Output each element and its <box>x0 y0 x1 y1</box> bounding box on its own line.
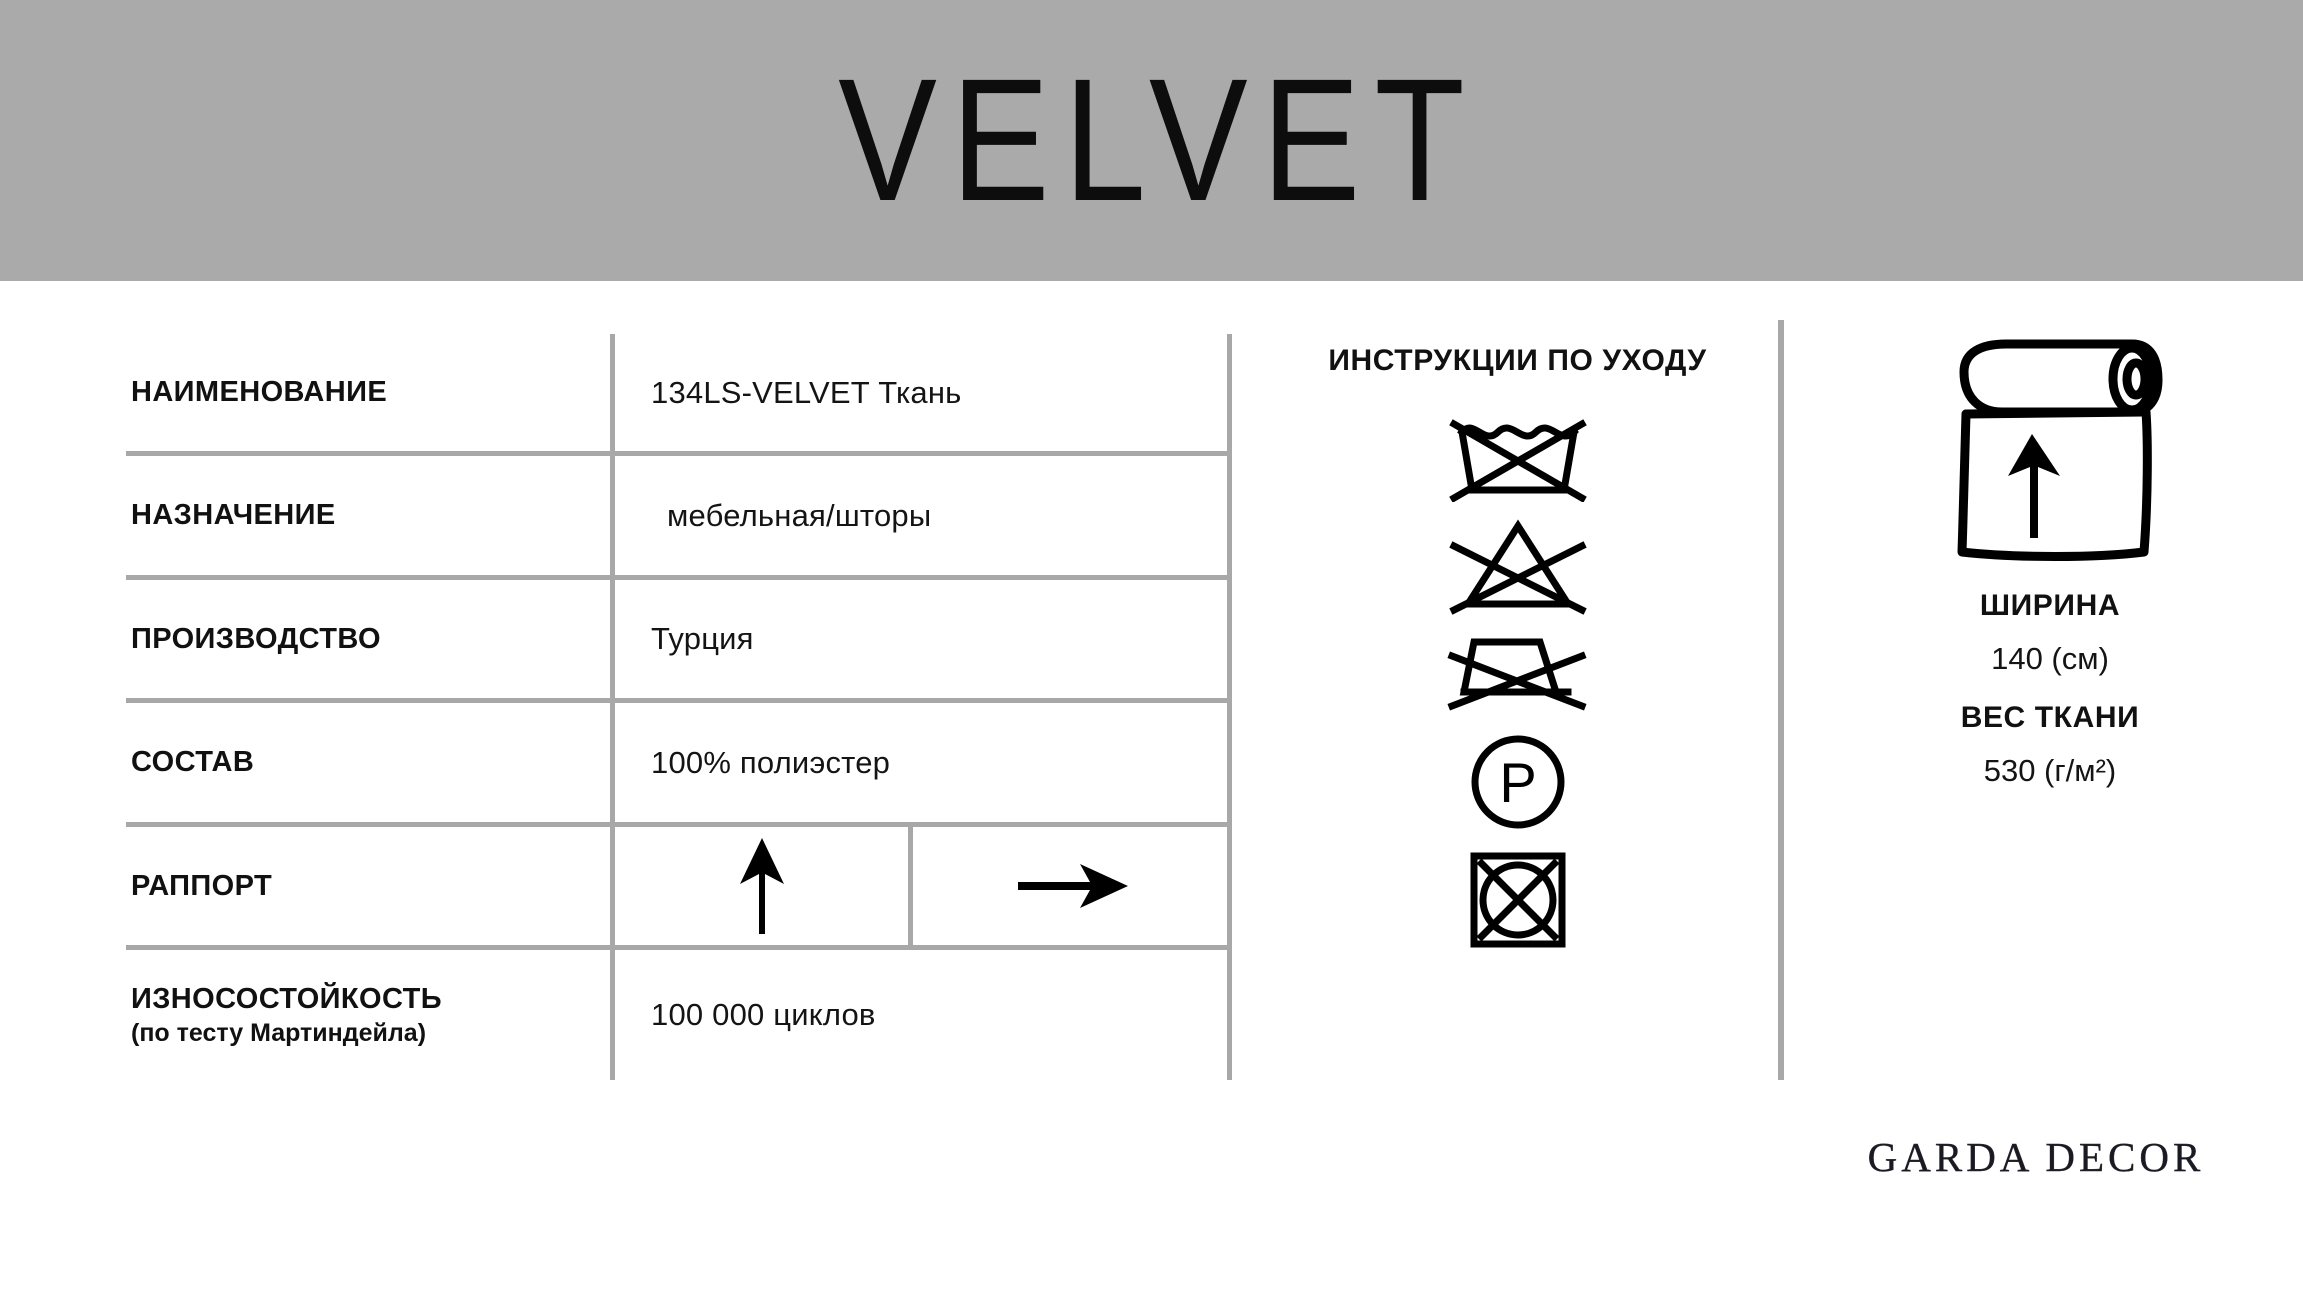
spec-label-cell: СОСТАВ <box>126 703 610 822</box>
specification-table: НАИМЕНОВАНИЕ 134LS-VELVET Ткань НАЗНАЧЕН… <box>126 334 1232 1080</box>
do-not-iron-icon <box>1444 630 1592 716</box>
page-title: VELVET <box>824 53 1479 228</box>
table-row: НАЗНАЧЕНИЕ мебельная/шторы <box>126 456 1232 580</box>
width-label: ШИРИНА <box>1980 589 2120 623</box>
weight-value: 530 (г/м²) <box>1984 753 2117 789</box>
roll-direction-arrow-icon <box>2008 434 2060 538</box>
spec-label-origin: ПРОИЗВОДСТВО <box>131 622 594 656</box>
section-divider <box>1778 320 1784 1080</box>
table-right-rule <box>1227 334 1232 1080</box>
spec-sublabel-durability: (по тесту Мартиндейла) <box>131 1018 594 1048</box>
spec-value-purpose: мебельная/шторы <box>610 456 1232 575</box>
spec-label-cell: ИЗНОСОСТОЙКОСТЬ (по тесту Мартиндейла) <box>126 950 610 1080</box>
header-band: VELVET <box>0 0 2303 281</box>
care-heading: ИНСТРУКЦИИ ПО УХОДУ <box>1328 344 1706 378</box>
table-row: РАППОРТ <box>126 827 1232 950</box>
spec-value-durability: 100 000 циклов <box>610 950 1232 1080</box>
weight-label: ВЕС ТКАНИ <box>1961 701 2140 735</box>
dry-clean-letter: P <box>1499 751 1536 814</box>
spec-label-cell: ПРОИЗВОДСТВО <box>126 580 610 698</box>
spec-label-cell: НАИМЕНОВАНИЕ <box>126 334 610 451</box>
spec-value-origin: Турция <box>610 580 1232 698</box>
spec-label-rapport: РАППОРТ <box>131 869 594 903</box>
care-icon-list: P <box>1444 406 1592 952</box>
do-not-bleach-icon <box>1444 516 1592 616</box>
dry-clean-p-icon: P <box>1466 730 1570 834</box>
spec-label-cell: РАППОРТ <box>126 827 610 945</box>
do-not-wash-icon <box>1444 406 1592 502</box>
spec-label-durability: ИЗНОСОСТОЙКОСТЬ <box>131 982 594 1016</box>
table-row: ПРОИЗВОДСТВО Турция <box>126 580 1232 703</box>
table-row: НАИМЕНОВАНИЕ 134LS-VELVET Ткань <box>126 334 1232 456</box>
arrow-up-icon <box>732 834 792 938</box>
rapport-horizontal-cell <box>908 827 1232 945</box>
care-instructions-section: ИНСТРУКЦИИ ПО УХОДУ <box>1270 334 1765 1080</box>
dimensions-section: ШИРИНА 140 (см) ВЕС ТКАНИ 530 (г/м²) <box>1830 330 2270 789</box>
width-value: 140 (см) <box>1991 641 2109 677</box>
spec-value-composition: 100% полиэстер <box>610 703 1232 822</box>
spec-label-name: НАИМЕНОВАНИЕ <box>131 375 594 409</box>
table-row: ИЗНОСОСТОЙКОСТЬ (по тесту Мартиндейла) 1… <box>126 950 1232 1080</box>
brand-logo: GARDA DECOR <box>1826 1133 2246 1181</box>
fabric-roll-icon <box>1936 330 2164 565</box>
spec-value-name: 134LS-VELVET Ткань <box>610 334 1232 451</box>
spec-label-cell: НАЗНАЧЕНИЕ <box>126 456 610 575</box>
table-row: СОСТАВ 100% полиэстер <box>126 703 1232 827</box>
spec-label-purpose: НАЗНАЧЕНИЕ <box>131 498 594 532</box>
arrow-right-icon <box>1014 855 1132 917</box>
fabric-spec-sheet: VELVET НАИМЕНОВАНИЕ 134LS-VELVET Ткань Н… <box>0 0 2303 1299</box>
rapport-vertical-cell <box>615 827 908 945</box>
do-not-tumble-dry-icon <box>1466 848 1570 952</box>
rapport-cells <box>610 827 1232 945</box>
spec-label-composition: СОСТАВ <box>131 745 594 779</box>
